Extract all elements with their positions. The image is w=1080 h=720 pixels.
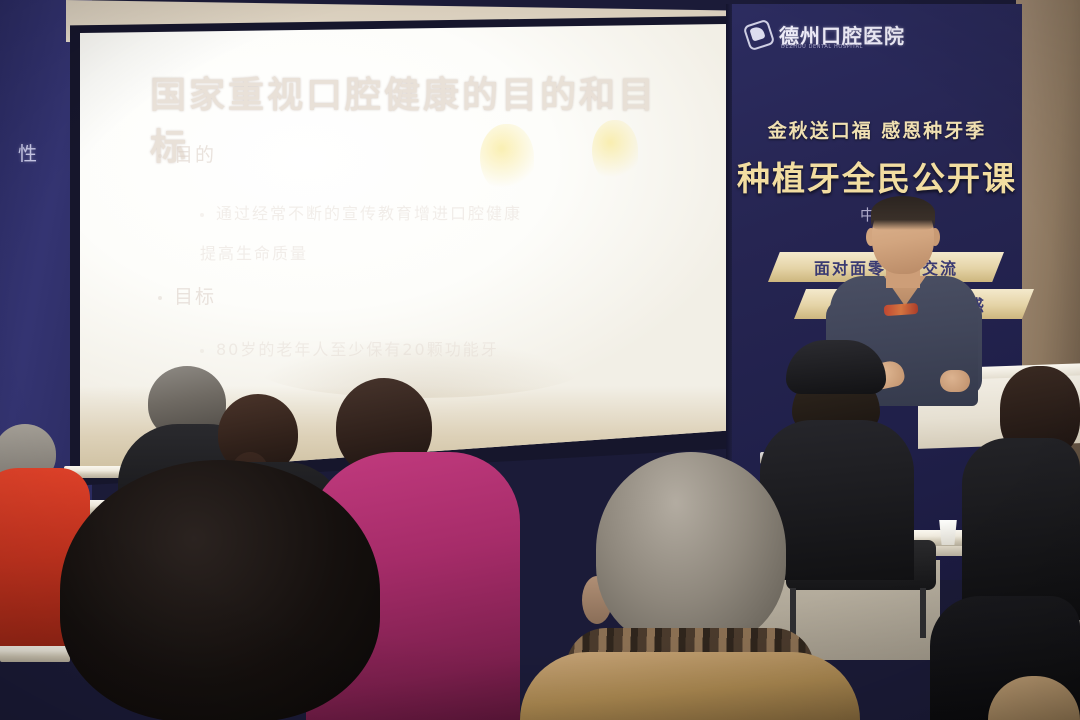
slide-title: 国家重视口腔健康的目的和目标 xyxy=(150,66,690,170)
bullet-dot-icon xyxy=(200,349,204,353)
slide-bullet-1: 目的 xyxy=(158,140,216,167)
left-wall-banner-text: 性 xyxy=(18,139,38,166)
lecture-photo-scene: 性 国家重视口腔健康的目的和目标 目的 通过经常不断的宣传教育增进口腔健康提高生… xyxy=(0,0,1080,720)
speaker-hair xyxy=(871,196,935,230)
attendee-far-right-body xyxy=(962,438,1080,620)
slide-bullet-3-text: 目标 xyxy=(174,286,216,308)
attendee-foreground-black-hair-head xyxy=(60,460,380,720)
bullet-dot-icon xyxy=(158,154,162,158)
slide-bullet-4-text: 80岁的老年人至少保有20颗功能牙 xyxy=(216,340,499,359)
bullet-dot-icon xyxy=(158,296,162,300)
speaker-chest-logo-icon xyxy=(884,303,919,316)
slide-bullet-2-text: 通过经常不断的宣传教育增进口腔健康提高生命质量 xyxy=(200,204,522,263)
slide-bullet-2: 通过经常不断的宣传教育增进口腔健康提高生命质量 xyxy=(200,194,530,274)
attendee-black-cap-hat xyxy=(786,340,886,394)
attendee-tan-jacket-head xyxy=(596,452,786,648)
speaker-hand-right xyxy=(940,370,970,392)
chair-leg xyxy=(920,588,926,638)
desk xyxy=(0,644,70,662)
banner-headline: 种植牙全民公开课 xyxy=(732,152,1022,200)
slide-bullet-4: 80岁的老年人至少保有20颗功能牙 xyxy=(200,336,530,360)
slide-bullet-1-text: 目的 xyxy=(174,144,216,166)
slide-bullet-3: 目标 xyxy=(158,282,216,309)
bullet-dot-icon xyxy=(200,213,204,217)
diamond-logo-icon xyxy=(746,22,772,48)
banner-subheadline: 金秋送口福 感恩种牙季 xyxy=(732,116,1022,143)
hospital-name-en: DEZHOU DENTAL HOSPITAL xyxy=(781,44,863,50)
attendee-tan-jacket-body xyxy=(520,652,860,720)
